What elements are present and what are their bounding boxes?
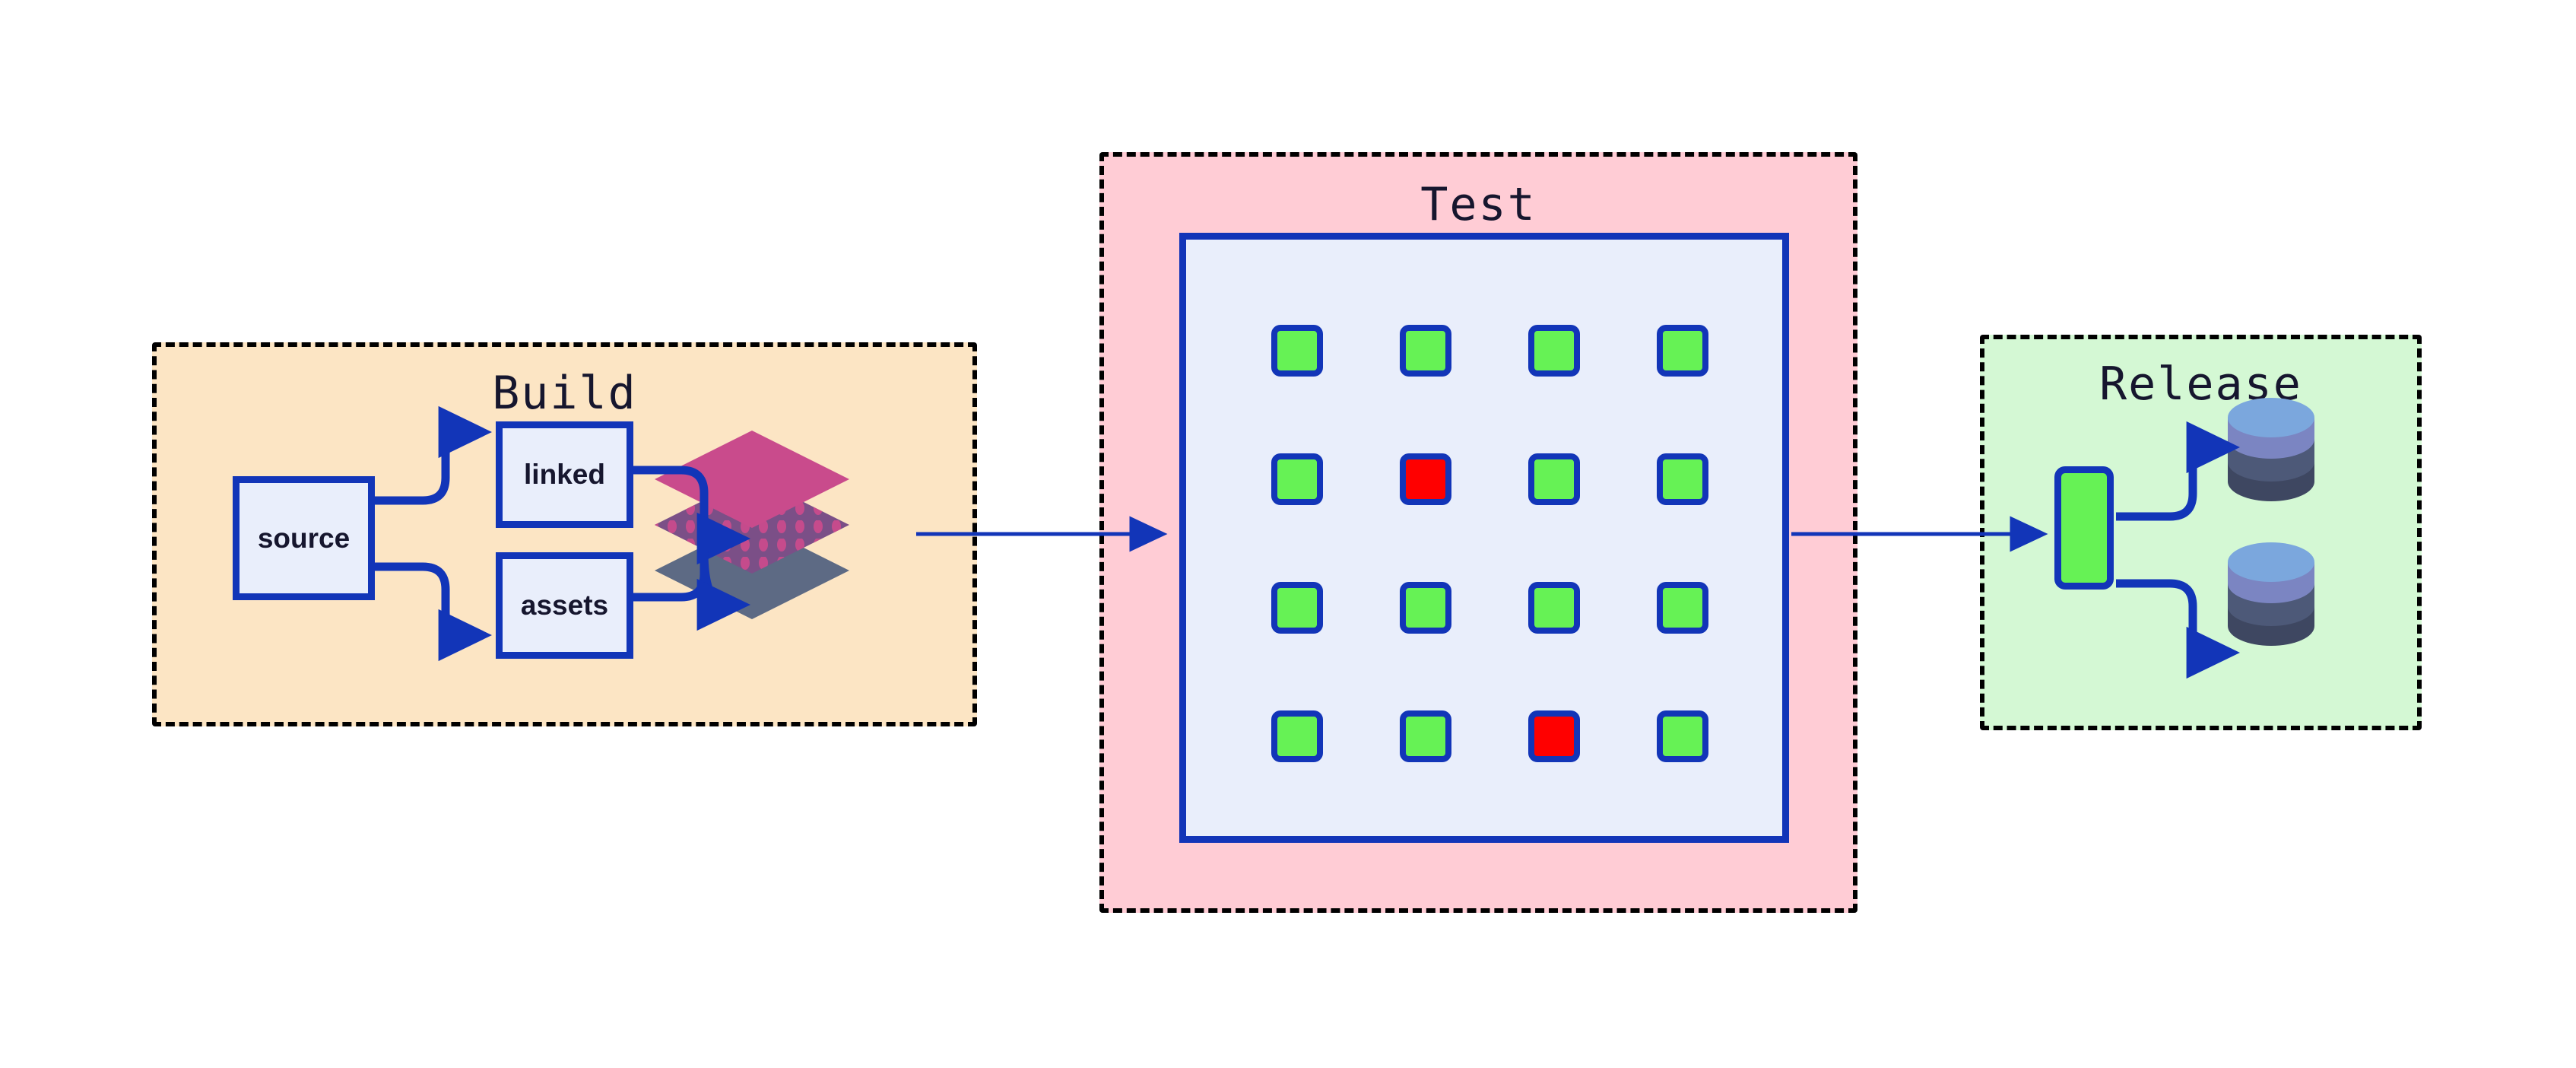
test-cell[interactable]	[1400, 710, 1451, 762]
database-cylinder-svg	[2226, 541, 2316, 647]
stage-group-release[interactable]: Release	[1980, 335, 2422, 730]
test-cell[interactable]	[1528, 582, 1580, 634]
stage-group-test[interactable]: Test	[1099, 152, 1857, 913]
test-cell[interactable]	[1400, 582, 1451, 634]
node-assets-label: assets	[521, 590, 608, 621]
test-suite-panel[interactable]	[1179, 233, 1789, 843]
node-linked[interactable]: linked	[496, 421, 633, 528]
test-cell[interactable]	[1271, 325, 1323, 377]
test-cell-failed[interactable]	[1528, 710, 1580, 762]
test-cell[interactable]	[1271, 710, 1323, 762]
test-cell[interactable]	[1657, 710, 1708, 762]
test-result-grid	[1271, 325, 1709, 763]
node-release-artifact[interactable]	[2054, 466, 2114, 590]
stage-title-build: Build	[157, 367, 972, 420]
database-cylinder-svg	[2226, 396, 2316, 503]
test-cell[interactable]	[1271, 582, 1323, 634]
test-cell[interactable]	[1528, 325, 1580, 377]
layer-stack-icon[interactable]	[648, 429, 857, 642]
database-icon-1[interactable]	[2226, 396, 2316, 503]
test-cell[interactable]	[1657, 582, 1708, 634]
stage-title-test: Test	[1104, 178, 1853, 231]
node-source-label: source	[258, 523, 350, 555]
test-cell[interactable]	[1657, 453, 1708, 505]
test-cell[interactable]	[1657, 325, 1708, 377]
node-assets[interactable]: assets	[496, 552, 633, 659]
test-cell[interactable]	[1400, 325, 1451, 377]
node-source[interactable]: source	[233, 476, 375, 600]
stage-title-release: Release	[1984, 358, 2417, 411]
test-cell[interactable]	[1271, 453, 1323, 505]
stage-group-build[interactable]: Build source linked assets	[152, 342, 977, 726]
test-cell-failed[interactable]	[1400, 453, 1451, 505]
diagram-canvas: Build source linked assets	[0, 0, 2576, 1068]
test-cell[interactable]	[1528, 453, 1580, 505]
database-icon-2[interactable]	[2226, 541, 2316, 647]
layer-stack-svg	[648, 429, 857, 642]
node-linked-label: linked	[524, 459, 605, 491]
